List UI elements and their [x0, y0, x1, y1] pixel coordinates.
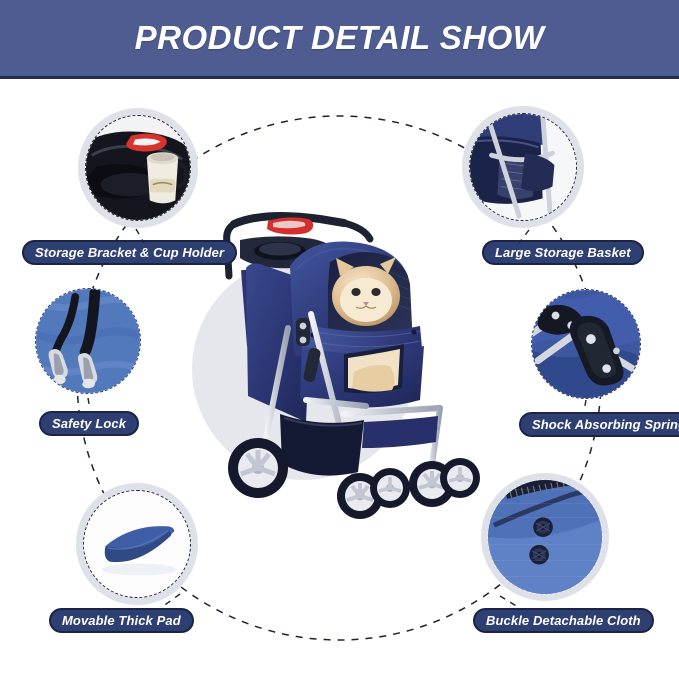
callout-photo-storage-basket: [469, 113, 577, 221]
label-storage-bracket-cup-holder: Storage Bracket & Cup Holder: [22, 240, 237, 265]
storage-basket-photo: [470, 114, 576, 220]
callout-circle-frame: [34, 287, 142, 395]
handlebar-cup-holder-photo: [86, 116, 190, 220]
label-buckle-detachable-cloth: Buckle Detachable Cloth: [473, 608, 654, 633]
callout-photo-buckle-cloth: [487, 479, 603, 595]
shock-absorbing-spring-photo: [532, 290, 640, 398]
snap-button-2: [529, 545, 549, 565]
callout-safety-lock: [34, 287, 142, 395]
callout-photo-safety-lock: [35, 288, 141, 394]
callout-large-storage-basket: [462, 106, 584, 228]
leader-shock-spring: [584, 400, 586, 411]
callout-photo-storage-bracket: [85, 115, 191, 221]
callout-circle-frame: [78, 108, 198, 228]
callout-circle-frame: [530, 288, 642, 400]
safety-lock-photo: [36, 289, 140, 393]
under-basket: [280, 414, 364, 476]
callout-storage-bracket-cup-holder: [78, 108, 198, 228]
hero-product-image: [218, 196, 480, 526]
callout-buckle-detachable-cloth: [481, 473, 609, 601]
label-shock-absorbing-spring: Shock Absorbing Spring: [519, 412, 679, 437]
header-banner: PRODUCT DETAIL SHOW: [0, 0, 679, 79]
product-detail-infographic: PRODUCT DETAIL SHOW: [0, 0, 679, 679]
label-movable-thick-pad: Movable Thick Pad: [49, 608, 194, 633]
buckle-detachable-cloth-photo: [488, 480, 602, 594]
callout-photo-thick-pad: [83, 490, 191, 598]
rear-shelf: [362, 416, 438, 448]
callout-movable-thick-pad: [76, 483, 198, 605]
label-safety-lock: Safety Lock: [39, 411, 139, 436]
pet-stroller-illustration: [218, 196, 480, 526]
callout-circle-frame: [76, 483, 198, 605]
callout-circle-frame: [462, 106, 584, 228]
leader-safety-lock: [88, 398, 90, 410]
callout-shock-absorbing-spring: [530, 288, 642, 400]
label-large-storage-basket: Large Storage Basket: [482, 240, 644, 265]
snap-button-1: [533, 517, 553, 537]
callout-circle-frame: [481, 473, 609, 601]
cat-illustration: [332, 257, 400, 326]
movable-thick-pad-photo: [84, 491, 190, 597]
callout-photo-shock-spring: [531, 289, 641, 399]
page-title: PRODUCT DETAIL SHOW: [135, 19, 545, 57]
